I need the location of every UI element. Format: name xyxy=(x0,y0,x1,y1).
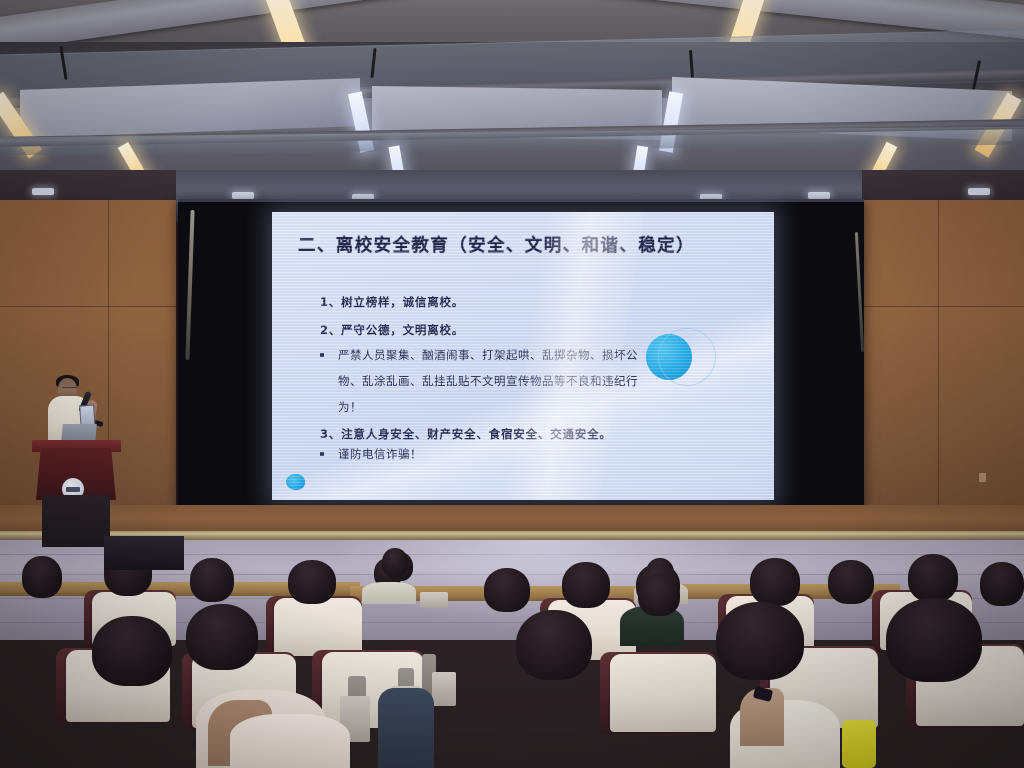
slide-line-item-2: 2、严守公德，文明离校。 xyxy=(320,322,464,338)
bullet-marker xyxy=(320,452,324,456)
desk-flap xyxy=(420,592,448,608)
audience-head xyxy=(562,562,610,608)
audience-head xyxy=(190,558,234,602)
slide-line-item-1: 1、树立榜样，诚信离校。 xyxy=(320,294,464,310)
slide-text-block: 二、离校安全教育（安全、文明、和谐、稳定） 1、树立榜样，诚信离校。 2、严守公… xyxy=(272,212,774,500)
audience-head xyxy=(186,604,258,670)
seat-back[interactable] xyxy=(610,654,716,732)
slide-line-item-3: 3、注意人身安全、财产安全、食宿安全、交通安全。 xyxy=(320,426,612,442)
audience-head xyxy=(516,610,592,680)
seat-back[interactable] xyxy=(274,598,362,656)
audience-head xyxy=(288,560,336,604)
wall-right xyxy=(862,200,1024,530)
yellow-bag xyxy=(842,720,876,768)
desk-flap xyxy=(432,672,456,706)
audience-head xyxy=(484,568,530,612)
audience-head xyxy=(886,598,982,682)
audience-seating xyxy=(0,540,1024,768)
presentation-slide[interactable]: 二、离校安全教育（安全、文明、和谐、稳定） 1、树立榜样，诚信离校。 2、严守公… xyxy=(272,212,774,500)
slide-title: 二、离校安全教育（安全、文明、和谐、稳定） xyxy=(298,232,758,257)
audience-head xyxy=(22,556,62,598)
audience-head xyxy=(828,560,874,604)
audience-legs xyxy=(378,688,434,768)
ceiling xyxy=(0,0,1024,178)
audience-head xyxy=(716,602,804,680)
audience-head xyxy=(750,558,800,606)
audience-head xyxy=(908,554,958,602)
recessed-downlight xyxy=(232,192,254,199)
auditorium-scene: 二、离校安全教育（安全、文明、和谐、稳定） 1、树立榜样，诚信离校。 2、严守公… xyxy=(0,0,1024,768)
audience-head xyxy=(382,548,408,577)
audience-head xyxy=(980,562,1024,606)
slide-line-bullet-1a: 严禁人员聚集、酗酒闹事、打架起哄、乱掷杂物、损坏公 xyxy=(338,347,638,363)
bullet-marker xyxy=(320,353,324,357)
glasses-icon xyxy=(62,387,77,391)
slide-line-bullet-1c: 为！ xyxy=(338,399,362,415)
recessed-downlight xyxy=(808,192,830,199)
audience-head xyxy=(92,616,172,686)
recessed-downlight xyxy=(32,188,54,195)
wall-outlet xyxy=(978,472,987,483)
audience-head xyxy=(638,574,680,616)
audience-shoulders xyxy=(362,582,416,604)
slide-line-bullet-2a: 谨防电信诈骗！ xyxy=(338,446,422,462)
audience-shoulders xyxy=(230,714,350,768)
loudspeaker-box xyxy=(104,536,184,570)
recessed-downlight xyxy=(968,188,990,195)
slide-line-bullet-1b: 物、乱涂乱画、乱挂乱贴不文明宣传物品等不良和违纪行 xyxy=(338,373,638,389)
